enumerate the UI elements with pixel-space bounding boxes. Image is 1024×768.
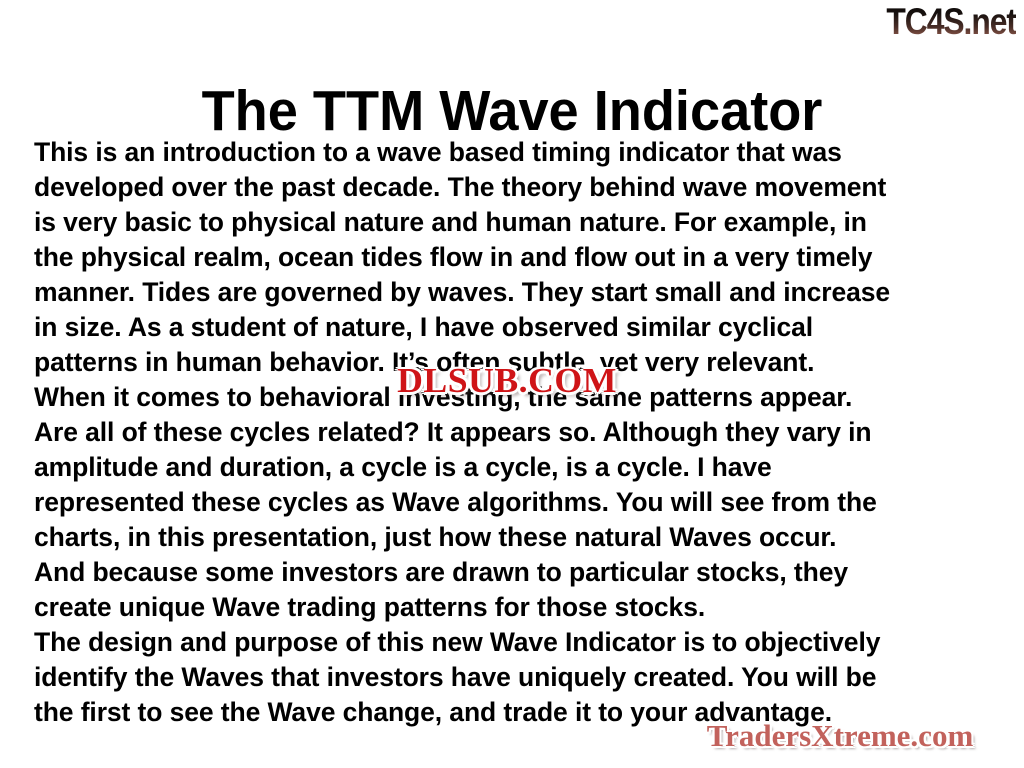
body-line: Are all of these cycles related? It appe… — [34, 415, 994, 450]
dlsub-watermark: DLSUB.COM — [366, 362, 648, 400]
tradersxtreme-logo: TradersXtreme.com — [672, 717, 1008, 755]
body-line: identify the Waves that investors have u… — [34, 660, 994, 695]
page-title: The TTM Wave Indicator — [26, 80, 999, 142]
body-line: in size. As a student of nature, I have … — [34, 310, 994, 345]
body-line: And because some investors are drawn to … — [34, 555, 994, 590]
body-line: amplitude and duration, a cycle is a cyc… — [34, 450, 994, 485]
body-line: charts, in this presentation, just how t… — [34, 520, 994, 555]
body-line: the physical realm, ocean tides flow in … — [34, 240, 994, 275]
body-line: The design and purpose of this new Wave … — [34, 625, 994, 660]
paragraph-2: The design and purpose of this new Wave … — [34, 625, 994, 730]
body-line: create unique Wave trading patterns for … — [34, 590, 994, 625]
body-line: represented these cycles as Wave algorit… — [34, 485, 994, 520]
body-line: is very basic to physical nature and hum… — [34, 205, 994, 240]
slide-body-text: This is an introduction to a wave based … — [34, 135, 994, 730]
body-line: developed over the past decade. The theo… — [34, 170, 994, 205]
body-line: This is an introduction to a wave based … — [34, 135, 994, 170]
presentation-slide: TC4S.net The TTM Wave Indicator This is … — [0, 0, 1024, 768]
tc4s-logo: TC4S.net — [861, 0, 1016, 44]
body-line: manner. Tides are governed by waves. The… — [34, 275, 994, 310]
